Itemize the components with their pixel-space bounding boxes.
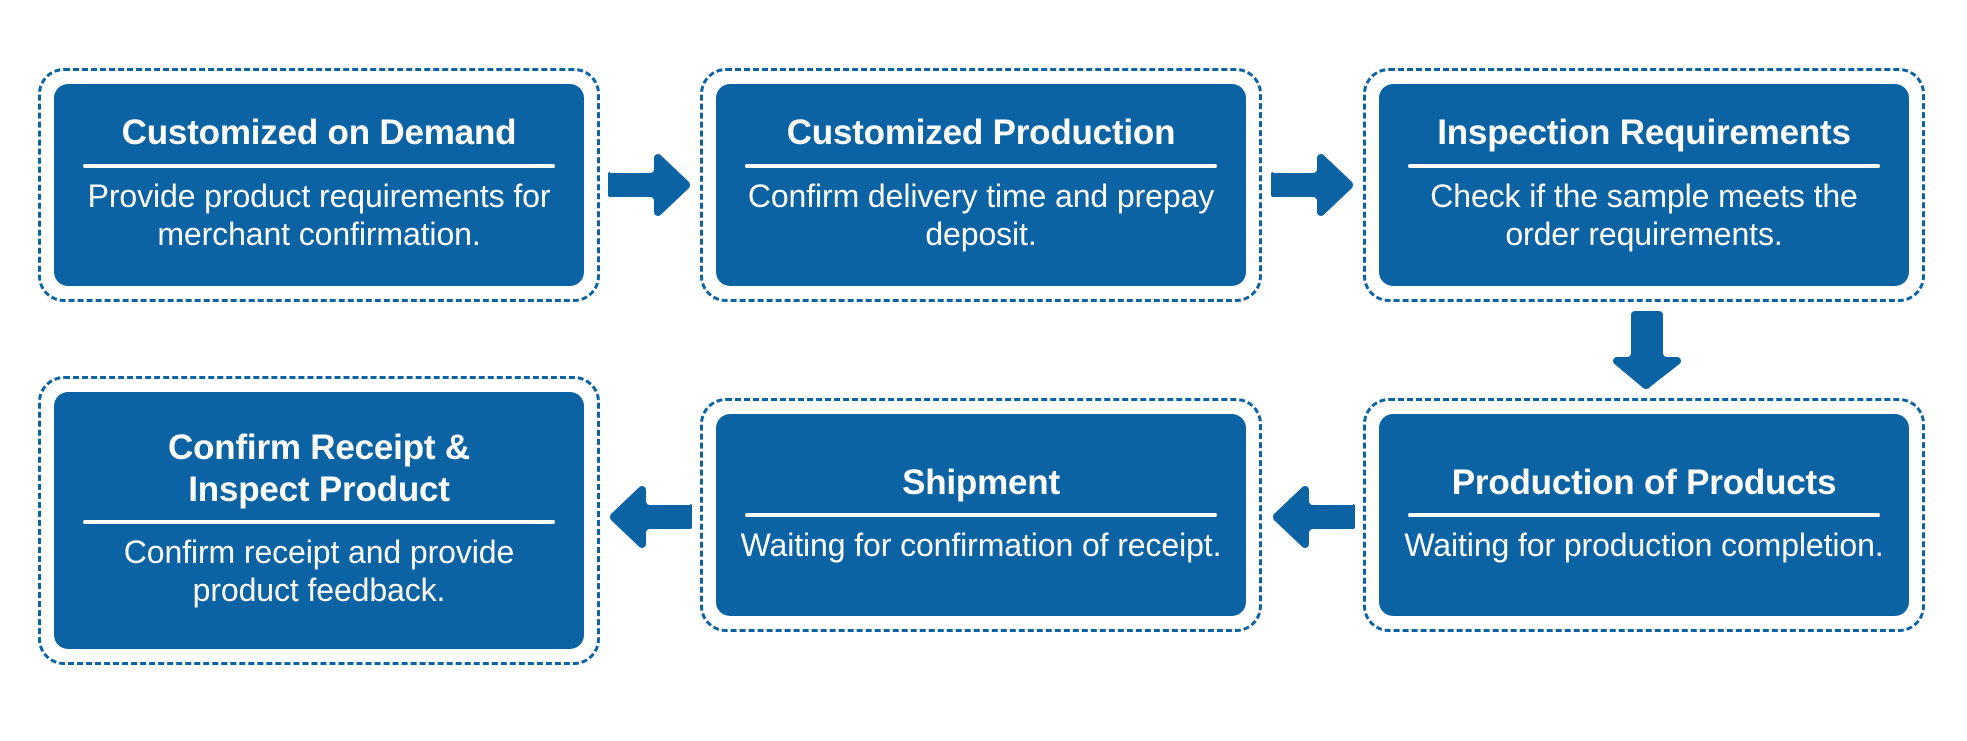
process-node-confirm-receipt-inspect-product[interactable]: Confirm Receipt & Inspect Product Confir… (38, 376, 600, 665)
node-title: Inspection Requirements (1437, 112, 1851, 153)
node-card: Production of Products Waiting for produ… (1379, 414, 1909, 616)
process-flow-diagram: Customized on Demand Provide product req… (0, 0, 1967, 741)
node-card: Customized on Demand Provide product req… (54, 84, 584, 286)
node-description: Confirm receipt and provide product feed… (70, 533, 568, 610)
node-title: Customized on Demand (122, 112, 517, 153)
node-divider (745, 513, 1217, 517)
arrow-left-icon (1271, 482, 1355, 552)
node-description: Waiting for confirmation of receipt. (741, 526, 1222, 564)
node-description: Confirm delivery time and prepay deposit… (732, 177, 1230, 254)
node-divider (83, 164, 555, 168)
process-node-customized-on-demand[interactable]: Customized on Demand Provide product req… (38, 68, 600, 302)
node-card: Inspection Requirements Check if the sam… (1379, 84, 1909, 286)
node-title: Production of Products (1452, 462, 1836, 503)
node-card: Confirm Receipt & Inspect Product Confir… (54, 392, 584, 649)
node-title: Confirm Receipt & Inspect Product (168, 427, 470, 510)
arrow-right-icon (608, 150, 692, 220)
node-description: Provide product requirements for merchan… (70, 177, 568, 254)
node-card: Shipment Waiting for confirmation of rec… (716, 414, 1246, 616)
node-divider (1408, 164, 1880, 168)
process-node-customized-production[interactable]: Customized Production Confirm delivery t… (700, 68, 1262, 302)
node-card: Customized Production Confirm delivery t… (716, 84, 1246, 286)
node-description: Waiting for production completion. (1404, 526, 1883, 564)
node-divider (1408, 513, 1880, 517)
node-title: Shipment (902, 462, 1060, 503)
node-divider (83, 520, 555, 524)
process-node-shipment[interactable]: Shipment Waiting for confirmation of rec… (700, 398, 1262, 632)
node-divider (745, 164, 1217, 168)
process-node-production-of-products[interactable]: Production of Products Waiting for produ… (1363, 398, 1925, 632)
process-node-inspection-requirements[interactable]: Inspection Requirements Check if the sam… (1363, 68, 1925, 302)
arrow-left-icon (608, 482, 692, 552)
arrow-right-icon (1271, 150, 1355, 220)
node-title: Customized Production (787, 112, 1176, 153)
arrow-down-icon (1612, 309, 1682, 391)
node-description: Check if the sample meets the order requ… (1395, 177, 1893, 254)
